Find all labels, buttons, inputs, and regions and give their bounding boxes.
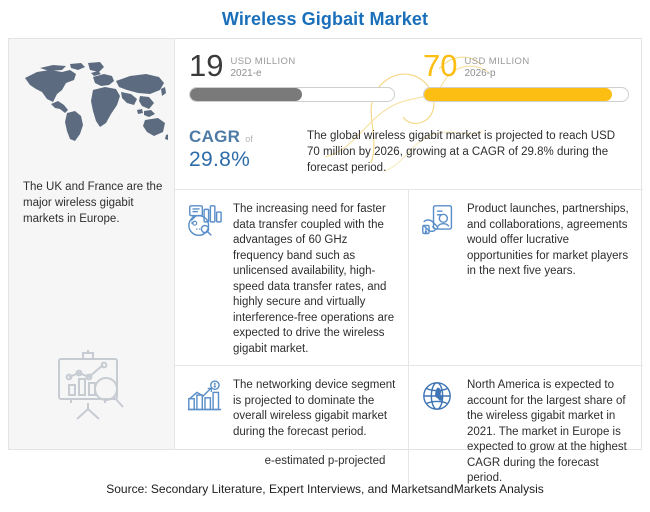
progress-track-2021 xyxy=(189,87,395,102)
bar-chart-growth-icon xyxy=(187,380,223,412)
stats-row: 19 USD MILLION 2021-e 70 USD MI xyxy=(175,45,643,121)
stat-value: 19 xyxy=(189,49,223,83)
quad-icon-wrap xyxy=(187,202,225,357)
quad-icon-wrap xyxy=(187,378,225,487)
cagr-top: CAGR of xyxy=(189,127,297,147)
insight-card-opportunities: Product launches, partnerships, and coll… xyxy=(409,190,643,365)
progress-fill-2021 xyxy=(190,88,302,101)
footer-legend: e-estimated p-projected xyxy=(0,455,650,467)
cagr-block: CAGR of 29.8% xyxy=(189,125,297,187)
cagr-of-label: of xyxy=(245,134,253,144)
progress-fill-2026 xyxy=(424,88,612,101)
stat-card-2021: 19 USD MILLION 2021-e xyxy=(175,45,409,121)
title-bar: Wireless Gigbait Market xyxy=(0,0,650,38)
insight-card-region: North America is expected to account for… xyxy=(409,365,643,495)
stat-unit-label: USD MILLION xyxy=(464,56,529,68)
insight-text: Product launches, partnerships, and coll… xyxy=(467,202,631,357)
stat-head: 19 USD MILLION 2021-e xyxy=(189,45,395,87)
progress-track-2026 xyxy=(423,87,629,102)
insight-text: The networking device segment is project… xyxy=(233,378,396,487)
insights-grid: The increasing need for faster data tran… xyxy=(175,189,643,451)
stat-unit-label: USD MILLION xyxy=(230,56,295,68)
main-panel: 19 USD MILLION 2021-e 70 USD MI xyxy=(175,39,641,449)
cagr-label: CAGR xyxy=(189,127,240,147)
sidebar: The UK and France are the major wireless… xyxy=(9,39,175,449)
insight-text: North America is expected to account for… xyxy=(467,378,631,487)
quad-icon-wrap xyxy=(421,202,459,357)
infographic-page: Wireless Gigbait Market xyxy=(0,0,650,512)
insight-text: The increasing need for faster data tran… xyxy=(233,202,396,357)
stat-value: 70 xyxy=(423,49,457,83)
presentation-chart-magnifier-icon xyxy=(49,347,135,421)
world-map-icon xyxy=(18,61,168,145)
stat-year-label: 2026-p xyxy=(464,68,529,80)
stat-unit: USD MILLION 2021-e xyxy=(230,49,295,80)
quad-icon-wrap xyxy=(421,378,459,487)
stat-card-2026: 70 USD MILLION 2026-p xyxy=(409,45,643,121)
board-icon-wrap xyxy=(9,329,175,439)
cagr-row: CAGR of 29.8% The global wireless gigabi… xyxy=(175,125,643,187)
cagr-description: The global wireless gigabit market is pr… xyxy=(307,125,629,187)
insight-card-segment: The networking device segment is project… xyxy=(175,365,409,495)
data-analytics-document-icon xyxy=(187,204,223,238)
footer-source: Source: Secondary Literature, Expert Int… xyxy=(0,482,650,496)
handshake-agreement-icon xyxy=(421,204,455,238)
world-map-wrap xyxy=(17,59,169,147)
globe-icon xyxy=(421,380,453,412)
insight-card-drivers: The increasing need for faster data tran… xyxy=(175,190,409,365)
stat-unit: USD MILLION 2026-p xyxy=(464,49,529,80)
page-title: Wireless Gigbait Market xyxy=(222,9,428,30)
sidebar-note: The UK and France are the major wireless… xyxy=(23,179,165,227)
content-frame: The UK and France are the major wireless… xyxy=(8,38,642,450)
stat-head: 70 USD MILLION 2026-p xyxy=(423,45,629,87)
stat-year-label: 2021-e xyxy=(230,68,295,80)
cagr-value: 29.8% xyxy=(189,148,297,172)
